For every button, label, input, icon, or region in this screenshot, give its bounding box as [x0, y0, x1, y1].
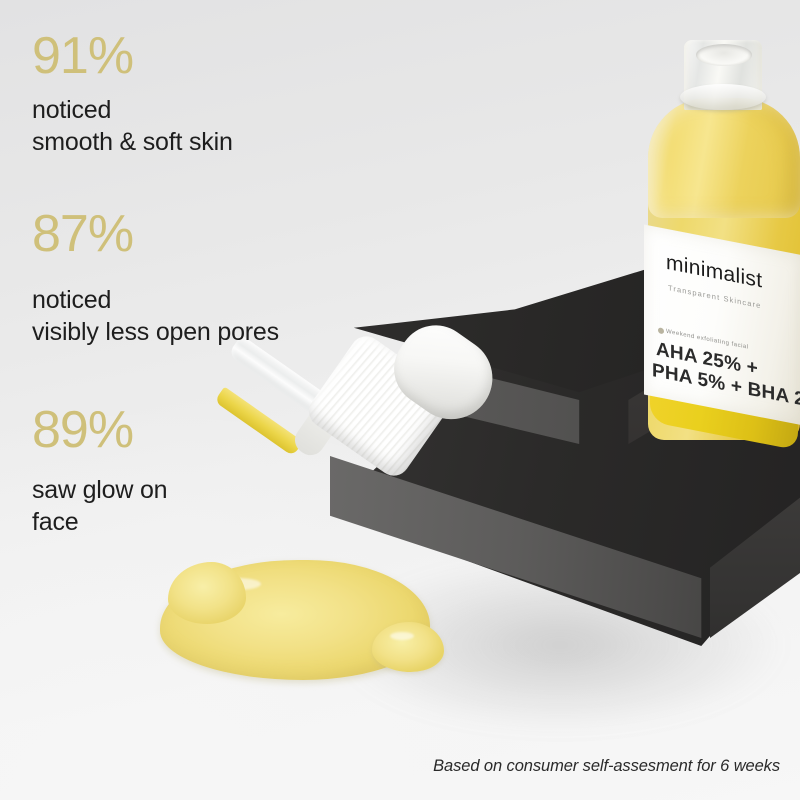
stat-block-1: 91% noticed smooth & soft skin — [32, 30, 233, 158]
stat-line-2: face — [32, 506, 167, 538]
stat-line-2: smooth & soft skin — [32, 126, 233, 158]
stat-line-1: noticed — [32, 284, 279, 316]
oil-droplet — [372, 622, 444, 672]
stat-percentage: 89% — [32, 404, 167, 456]
stat-line-1: saw glow on — [32, 474, 167, 506]
product-marketing-image: minimalist Transparent Skincare Weekend … — [0, 0, 800, 800]
stat-line-1: noticed — [32, 94, 233, 126]
leaf-icon — [658, 327, 664, 334]
stat-percentage: 87% — [32, 208, 279, 260]
bottle-mouth-opening — [696, 44, 752, 66]
oil-puddle-lobe — [168, 562, 246, 624]
bottle-neck-ring — [680, 84, 766, 110]
bottle-shoulder — [648, 98, 800, 218]
stat-block-3: 89% saw glow on face — [32, 404, 167, 538]
serum-bottle: minimalist Transparent Skincare Weekend … — [648, 40, 800, 430]
stat-percentage: 91% — [32, 30, 233, 82]
disclaimer-caption: Based on consumer self-assesment for 6 w… — [433, 757, 780, 776]
stat-line-2: visibly less open pores — [32, 316, 279, 348]
droplet-highlight — [390, 632, 414, 640]
bottle-label: minimalist Transparent Skincare Weekend … — [644, 224, 800, 425]
stat-block-2: 87% noticed visibly less open pores — [32, 208, 279, 348]
